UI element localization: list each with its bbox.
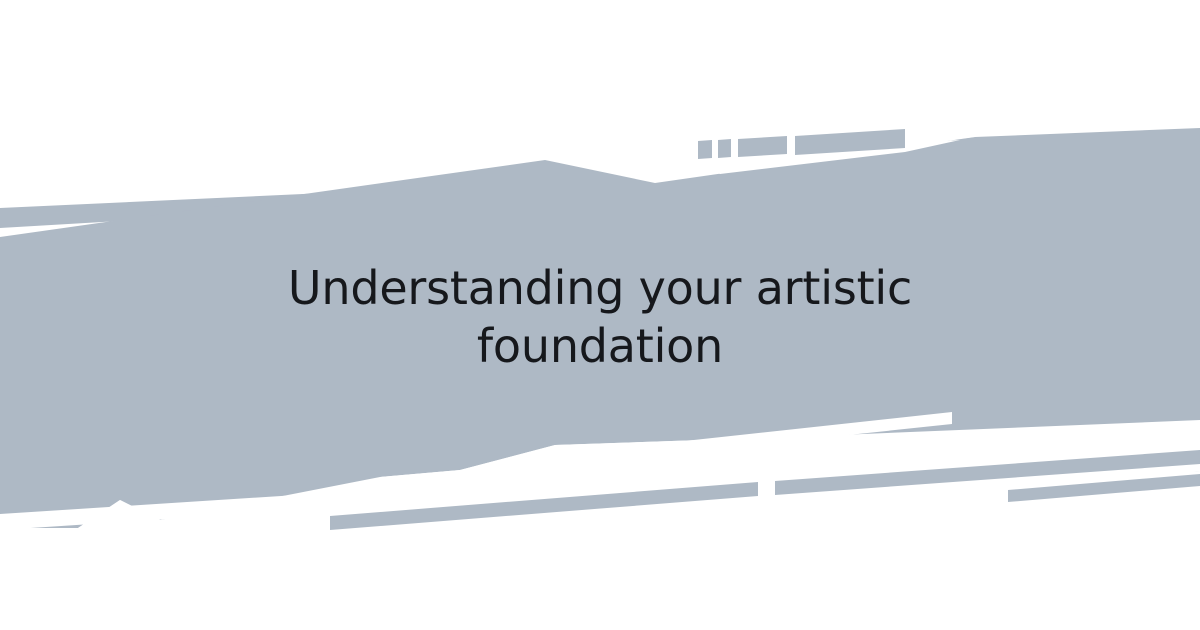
dash-mark-2-icon: [718, 139, 731, 158]
banner-canvas: Understanding your artistic foundation: [0, 0, 1200, 630]
banner-background-art: [0, 0, 1200, 630]
dash-mark-3-icon: [738, 136, 787, 157]
dash-mark-1-icon: [698, 140, 712, 159]
